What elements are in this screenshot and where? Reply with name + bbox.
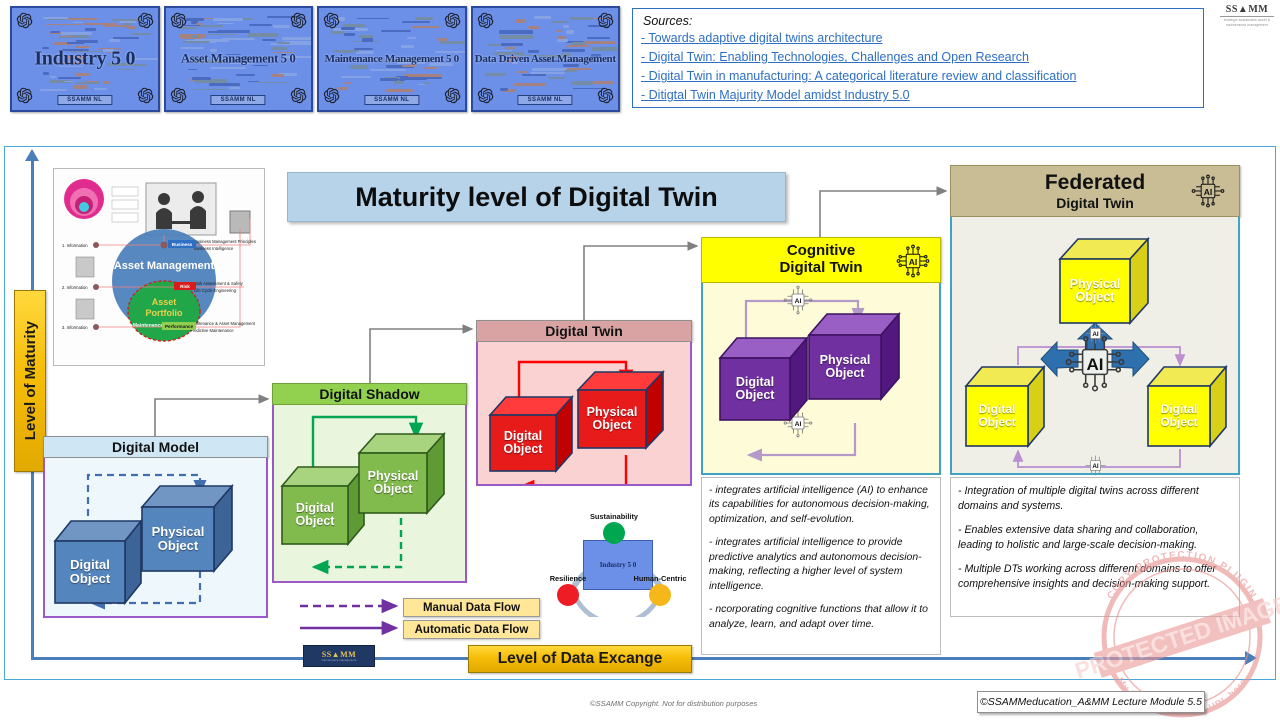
thumbnail-4[interactable]: Data Driven Asset ManagementSSAMM NL <box>471 6 621 112</box>
thumbnail-3[interactable]: Maintenance Management 5 0SSAMM NL <box>317 6 467 112</box>
openai-logo-icon <box>137 87 154 104</box>
stage-federated-digital-twin[interactable]: Federated Digital Twin AI <box>950 165 1240 475</box>
cube-label-line2: Object <box>504 443 543 457</box>
federated-physical-object-cube: Physical Object <box>1060 239 1130 303</box>
asset-row-label: 1. Information <box>62 243 88 248</box>
ssamm-tagline-2: maintenance management <box>1216 23 1278 28</box>
thumbnail-caption: Asset Management 5 0 <box>166 52 312 67</box>
federated-digital-object-left-cube: Digital Object <box>966 367 1028 427</box>
openai-logo-icon <box>170 12 187 29</box>
cognitive-physical-object-cube: Physical Object <box>809 314 881 378</box>
cube-label-line2: Object <box>1160 416 1197 429</box>
svg-text:Portfolio: Portfolio <box>146 308 183 318</box>
openai-logo-icon <box>290 87 307 104</box>
sources-box: Sources: - Towards adaptive digital twin… <box>632 8 1204 108</box>
cube-label-line1: Physical <box>587 406 638 420</box>
svg-text:AI: AI <box>1092 331 1099 338</box>
asset-management-center-label: Asset Management <box>114 260 215 272</box>
source-link-4[interactable]: - Ditigtal Twin Majurity Model amidst In… <box>641 86 1195 105</box>
wheel-center-label: Industry 5 0 <box>584 561 652 569</box>
footer-copyright: ©SSAMM Copyright. Not for distribution p… <box>590 699 757 708</box>
stage-federated-digital-twin-title: Federated Digital Twin AI <box>950 165 1240 217</box>
sources-heading: Sources: <box>643 14 1195 28</box>
digital-model-digital-object-cube: Digital Object <box>55 521 125 583</box>
openai-logo-icon <box>290 12 307 29</box>
cognitive-digital-object-cube: Digital Object <box>720 338 790 400</box>
thumbnail-2[interactable]: Asset Management 5 0SSAMM NL <box>164 6 314 112</box>
thumbnail-caption: Industry 5 0 <box>12 48 158 71</box>
ai-chip-icon: AI <box>1191 174 1225 208</box>
stage-digital-twin-body: Digital Object Physical Object <box>476 342 692 486</box>
openai-logo-icon <box>323 87 340 104</box>
cube-label-line1: Physical <box>820 354 871 368</box>
stage-digital-shadow[interactable]: Digital Shadow Digital Object <box>272 383 467 583</box>
cube-label-line1: Digital <box>70 558 110 572</box>
svg-text:AI: AI <box>795 421 802 428</box>
stage-digital-model-body: Digital Object Physical Object <box>43 458 268 618</box>
wheel-node-sustainability: Sustainability <box>603 522 625 544</box>
cube-label-line2: Object <box>1076 291 1115 305</box>
openai-logo-icon <box>444 87 461 104</box>
cube-label-line2: Object <box>158 539 198 553</box>
wheel-node-label: Resilience <box>550 574 587 583</box>
legend-arrows <box>296 595 406 635</box>
digital-shadow-physical-object-cube: Physical Object <box>359 434 427 494</box>
thumbnail-ssamm-badge: SSAMM NL <box>57 95 112 105</box>
stage-cognitive-digital-twin-title: Cognitive Digital Twin AI <box>701 237 941 283</box>
y-axis-label: Level of Maturity <box>14 290 46 472</box>
cube-label-line1: Physical <box>152 525 205 539</box>
digital-twin-physical-object-cube: Physical Object <box>578 372 646 430</box>
svg-text:Life Cycle Engineering: Life Cycle Engineering <box>194 288 237 293</box>
y-axis-label-text: Level of Maturity <box>22 321 39 440</box>
page-title: Maturity level of Digital Twin <box>287 172 786 222</box>
openai-logo-icon <box>444 12 461 29</box>
cube-label-line2: Object <box>374 483 413 497</box>
cube-label-line1: Digital <box>736 376 774 390</box>
asset-tag: Risk <box>180 284 190 289</box>
cube-label-line2: Object <box>296 515 335 529</box>
federated-digital-twin-notes: - Integration of multiple digital twins … <box>950 477 1240 617</box>
note-item: - Multiple DTs working across different … <box>958 562 1232 592</box>
openai-logo-icon <box>597 87 614 104</box>
thumbnail-strip: Industry 5 0SSAMM NLAsset Management 5 0… <box>10 6 620 112</box>
svg-text:AI: AI <box>909 257 918 267</box>
stage-digital-model[interactable]: Digital Model Digital Object <box>43 436 268 618</box>
ai-chip-icon: AI <box>896 244 930 278</box>
lecture-module-label: ©SSAMMeducation_A&MM Lecture Module 5.5 <box>977 691 1205 713</box>
thumbnail-ssamm-badge: SSAMM NL <box>364 95 419 105</box>
digital-twin-digital-object-cube: Digital Object <box>490 397 556 453</box>
svg-text:Maintenance & Asset Management: Maintenance & Asset Management <box>190 321 256 326</box>
stage-title-line2: Digital Twin <box>779 260 862 277</box>
ai-hub-label: AI <box>1086 355 1103 374</box>
cube-label-line1: Digital <box>296 502 334 516</box>
asset-row-label: 3. Information <box>62 325 88 330</box>
svg-text:AI: AI <box>795 298 802 305</box>
digital-model-physical-object-cube: Physical Object <box>142 486 214 550</box>
x-axis-label: Level of Data Excange <box>468 645 692 673</box>
wheel-node-resilience: Resilience <box>557 584 579 606</box>
ai-chip-icon-upper: AI <box>1083 321 1108 346</box>
stage-title-line1: Federated <box>1045 171 1145 195</box>
thumbnail-ssamm-badge: SSAMM NL <box>211 95 266 105</box>
source-link-3[interactable]: - Digital Twin in manufacturing: A categ… <box>641 67 1195 86</box>
digital-shadow-digital-object-cube: Digital Object <box>282 467 348 525</box>
cognitive-digital-twin-notes: - integrates artificial intelligence (AI… <box>701 477 941 655</box>
openai-logo-icon <box>323 12 340 29</box>
asset-tag: Business <box>172 242 193 247</box>
thumbnail-caption: Maintenance Management 5 0 <box>319 53 465 65</box>
stage-cognitive-digital-twin[interactable]: Cognitive Digital Twin AI <box>701 237 941 475</box>
svg-text:AI: AI <box>1092 463 1099 470</box>
thumbnail-ssamm-badge: SSAMM NL <box>518 95 573 105</box>
ssamm-badge: SS▲MM maintenance management <box>303 645 375 667</box>
note-item: - integrates artificial intelligence (AI… <box>709 484 933 527</box>
asset-row-label: 2. Information <box>62 285 88 290</box>
openai-logo-icon <box>597 12 614 29</box>
wheel-node-human-centric: Human-Centric <box>649 584 671 606</box>
note-item: - integrates artificial intelligence to … <box>709 536 933 594</box>
cube-label-line2: Object <box>978 416 1015 429</box>
stage-digital-twin-title: Digital Twin <box>476 320 692 342</box>
cube-label-line2: Object <box>826 367 865 381</box>
openai-logo-icon <box>137 12 154 29</box>
stage-digital-shadow-body: Digital Object Physical Object <box>272 405 467 583</box>
stage-digital-twin[interactable]: Digital Twin Digital Object <box>476 320 692 486</box>
ssamm-badge-tagline: maintenance management <box>321 659 356 662</box>
cube-label-line2: Object <box>736 389 775 403</box>
stage-digital-model-title: Digital Model <box>43 436 268 458</box>
asset-management-illustration: Asset Management Asset Portfolio Mainten… <box>53 168 265 366</box>
wheel-node-label: Sustainability <box>590 512 638 521</box>
legend-automatic-data-flow: Automatic Data Flow <box>403 620 540 639</box>
svg-text:Business Management Principles: Business Management Principles <box>194 239 256 244</box>
asset-tag: Performance <box>165 324 194 329</box>
asset-management-svg: Asset Management Asset Portfolio Mainten… <box>54 169 264 365</box>
openai-logo-icon <box>477 12 494 29</box>
cube-label-line1: Physical <box>1070 278 1121 292</box>
stage-federated-digital-twin-body: AI AI AI <box>950 217 1240 475</box>
industry-5-0-wheel: Industry 5 0 Sustainability Resilience H… <box>553 512 681 617</box>
openai-logo-icon <box>477 87 494 104</box>
svg-text:Predictive Maintenance: Predictive Maintenance <box>190 328 234 333</box>
cube-label-line1: Digital <box>504 430 542 444</box>
ssamm-logo: SS▲MM strategic sustainable asset & main… <box>1216 4 1278 27</box>
ssamm-badge-text: SS▲MM <box>322 650 356 659</box>
ai-chip-icon-lower: AI <box>1083 453 1108 478</box>
openai-logo-icon <box>16 87 33 104</box>
source-link-1[interactable]: - Towards adaptive digital twins archite… <box>641 29 1195 48</box>
svg-text:Business Intelligence: Business Intelligence <box>194 246 234 251</box>
stage-title-line2: Digital Twin <box>1056 195 1134 211</box>
stage-digital-shadow-title: Digital Shadow <box>272 383 467 405</box>
openai-logo-icon <box>16 12 33 29</box>
source-link-2[interactable]: - Digital Twin: Enabling Technologies, C… <box>641 48 1195 67</box>
svg-text:AI: AI <box>1204 187 1213 197</box>
note-item: - ncorporating cognitive functions that … <box>709 603 933 632</box>
cube-label-line2: Object <box>70 572 110 586</box>
cube-label-line2: Object <box>593 419 632 433</box>
thumbnail-caption: Data Driven Asset Management <box>473 53 619 65</box>
stage-title-line1: Cognitive <box>787 243 855 260</box>
ssamm-tagline-1: strategic sustainable asset & <box>1216 18 1278 23</box>
cube-label-line1: Physical <box>368 470 419 484</box>
note-item: - Integration of multiple digital twins … <box>958 484 1232 514</box>
legend-manual-data-flow: Manual Data Flow <box>403 598 540 617</box>
federated-digital-object-right-cube: Digital Object <box>1148 367 1210 427</box>
svg-text:Asset: Asset <box>152 297 177 307</box>
logo-divider <box>1220 16 1274 17</box>
note-item: - Enables extensive data sharing and col… <box>958 523 1232 553</box>
ssamm-logo-text: SS▲MM <box>1216 4 1278 15</box>
wheel-node-label: Human-Centric <box>634 574 687 583</box>
svg-text:Risk Assessment & Safety: Risk Assessment & Safety <box>194 281 244 286</box>
openai-logo-icon <box>170 87 187 104</box>
thumbnail-1[interactable]: Industry 5 0SSAMM NL <box>10 6 160 112</box>
stage-cognitive-digital-twin-body: AI AI Digital Object <box>701 283 941 475</box>
ai-chip-icon-top: AI <box>783 285 813 315</box>
